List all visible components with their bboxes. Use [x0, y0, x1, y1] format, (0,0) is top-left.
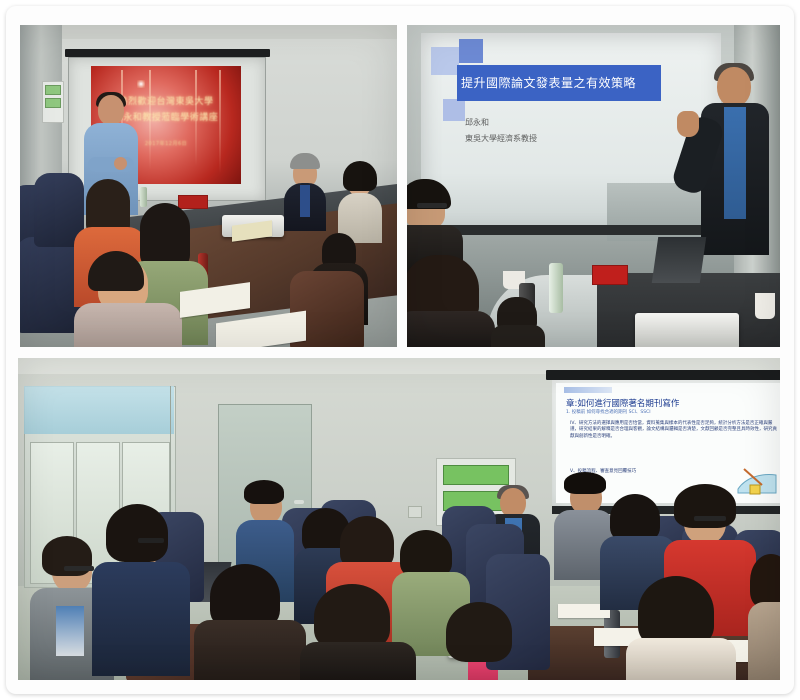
audience-person-2 [407, 255, 491, 347]
attendee-person-13 [436, 602, 524, 680]
slide-sparkle-icon [137, 80, 145, 88]
water-bottle [549, 263, 563, 313]
screen-roller [546, 370, 780, 380]
attendee-person-2 [92, 504, 184, 674]
presenter-head [717, 67, 751, 107]
presenter-person [697, 67, 773, 257]
photo-collage: 熱烈歡迎台灣東吳大學 邱永和教授蒞臨學術講座 2017年12月6日 [0, 0, 800, 700]
slide-bullet-1: IV、研究方法的選擇與應用是否恰當，資料蒐集與樣本的代表性是否足夠，統計分析方法… [570, 421, 778, 440]
speaker-head [98, 95, 124, 125]
slide-decoration-square [459, 39, 483, 63]
paper-cup [755, 293, 775, 319]
presenter-hand [677, 111, 699, 137]
speaker-hand [114, 157, 127, 170]
slide-decoration-square [431, 47, 459, 75]
slide-author: 邱永和 [465, 117, 489, 128]
projection-screen: 提升國際論文發表量之有效策略 邱永和 東吳大學經濟系教授 [421, 33, 721, 233]
attendee-person-8 [300, 584, 408, 680]
attendee-person-7 [194, 564, 298, 680]
presenter-shirt [724, 107, 746, 219]
slide-title: 提升國際論文發表量之有效策略 [461, 71, 661, 95]
speaker-folded-arms [88, 157, 134, 172]
guest-person-1 [284, 153, 326, 229]
attendee-person-12 [626, 576, 728, 680]
slide-title: 章:如何進行國際著名期刊寫作 [566, 397, 780, 409]
slide-subtitle: 1. 投稿前 如何尋找合適的期刊 SCI、SSCI [566, 409, 651, 415]
light-switch[interactable] [408, 506, 422, 518]
attendee-person-14 [748, 554, 780, 680]
screen-roller [65, 49, 270, 57]
door-handle-icon[interactable] [294, 500, 304, 504]
photo-top-right[interactable]: 提升國際論文發表量之有效策略 邱永和 東吳大學經濟系教授 [407, 25, 780, 347]
projector-device [635, 313, 739, 347]
photo-top-left[interactable]: 熱烈歡迎台灣東吳大學 邱永和教授蒞臨學術講座 2017年12月6日 [20, 25, 397, 347]
slide-decoration-square [443, 99, 465, 121]
photo-bottom[interactable]: 章:如何進行國際著名期刊寫作 1. 投稿前 如何尋找合適的期刊 SCI、SSCI… [18, 358, 780, 680]
fire-alarm-panel [42, 81, 64, 123]
slide-affiliation: 東吳大學經濟系教授 [465, 133, 537, 144]
laptop [652, 237, 706, 283]
screen-bottom-bar [421, 225, 721, 235]
ceiling [20, 25, 397, 39]
attendee-person-3 [74, 251, 178, 347]
slide-decoration-bar [564, 387, 612, 393]
audience-person-3 [491, 297, 543, 347]
name-plate [592, 265, 628, 285]
display-cabinet-poster [24, 386, 174, 434]
